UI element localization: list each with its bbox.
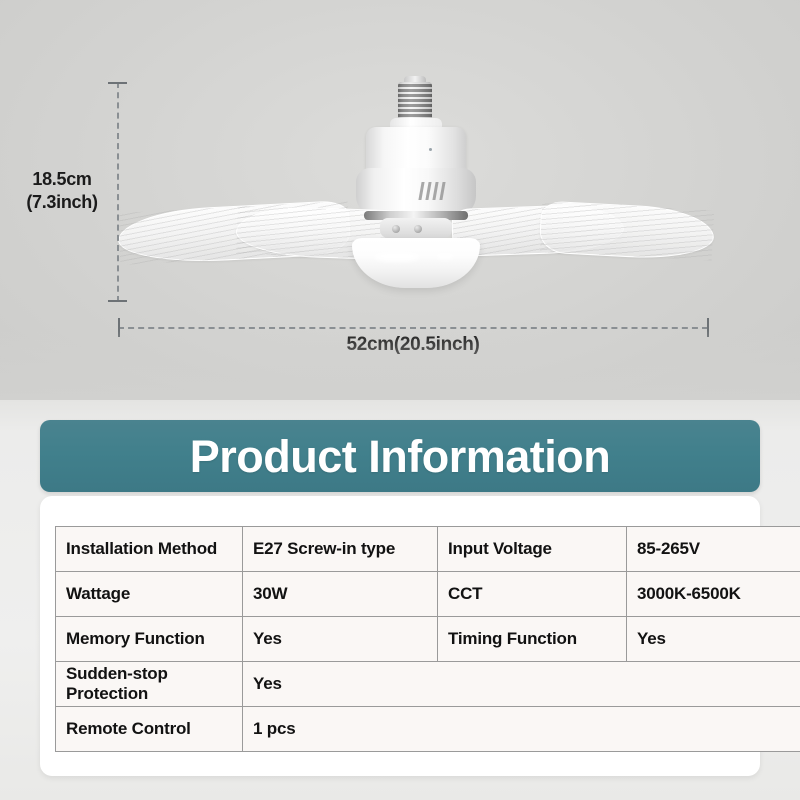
spec-key: Sudden-stop Protection xyxy=(56,662,243,707)
height-dimension-line xyxy=(117,82,119,302)
spec-value: E27 Screw-in type xyxy=(243,527,438,572)
spec-value: Yes xyxy=(627,617,800,662)
spec-key: Timing Function xyxy=(438,617,627,662)
ceiling-fan-product-image xyxy=(0,0,800,400)
spec-value: 85-265V xyxy=(627,527,800,572)
spec-key: Input Voltage xyxy=(438,527,627,572)
product-photo-area: 18.5cm (7.3inch) 52cm(20.5inch) xyxy=(0,0,800,400)
spec-table-panel: Installation Method E27 Screw-in type In… xyxy=(40,496,760,776)
height-dimension-cm: 18.5cm xyxy=(12,168,112,191)
spec-key: Installation Method xyxy=(56,527,243,572)
table-row: Memory Function Yes Timing Function Yes xyxy=(56,617,800,662)
spec-value: 1 pcs xyxy=(243,707,800,752)
hub-screw xyxy=(392,225,400,233)
table-row: Installation Method E27 Screw-in type In… xyxy=(56,527,800,572)
product-information-banner: Product Information xyxy=(40,420,760,492)
hub-screw xyxy=(414,225,422,233)
led-dome-light xyxy=(352,238,480,288)
housing-indicator-dot xyxy=(429,148,432,151)
table-row: Sudden-stop Protection Yes xyxy=(56,662,800,707)
blade-ribs xyxy=(540,202,714,261)
product-information-section: Product Information Installation Method … xyxy=(0,400,800,800)
height-dimension-inch: (7.3inch) xyxy=(12,191,112,214)
spec-key: Remote Control xyxy=(56,707,243,752)
spec-table-body: Installation Method E27 Screw-in type In… xyxy=(56,527,800,752)
table-row: Remote Control 1 pcs xyxy=(56,707,800,752)
spec-key: CCT xyxy=(438,572,627,617)
spec-value: Yes xyxy=(243,662,800,707)
spec-key: Memory Function xyxy=(56,617,243,662)
product-information-title: Product Information xyxy=(190,434,610,479)
spec-table: Installation Method E27 Screw-in type In… xyxy=(55,526,800,752)
height-dimension-cap-bottom xyxy=(108,300,127,302)
width-dimension-line xyxy=(118,327,708,329)
width-dimension-cap-left xyxy=(118,318,120,337)
spec-value: 3000K-6500K xyxy=(627,572,800,617)
product-info-page: 18.5cm (7.3inch) 52cm(20.5inch) Product … xyxy=(0,0,800,800)
width-dimension-cap-right xyxy=(707,318,709,337)
spec-value: Yes xyxy=(243,617,438,662)
spec-value: 30W xyxy=(243,572,438,617)
height-dimension-label: 18.5cm (7.3inch) xyxy=(12,168,112,214)
width-dimension-label: 52cm(20.5inch) xyxy=(263,334,563,356)
dome-highlight xyxy=(374,252,420,262)
upper-housing xyxy=(366,127,466,173)
fan-blade xyxy=(539,200,715,261)
dome-highlight xyxy=(436,253,454,260)
height-dimension-cap-top xyxy=(108,82,127,84)
spec-key: Wattage xyxy=(56,572,243,617)
table-row: Wattage 30W CCT 3000K-6500K xyxy=(56,572,800,617)
